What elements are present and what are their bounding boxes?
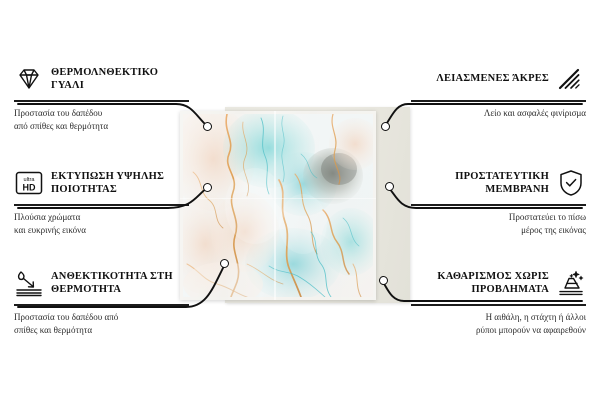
feature-title: ΕΚΤΥΠΩΣΗ ΥΨΗΛΗΣ ΠΟΙΟΤΗΤΑΣ	[51, 170, 189, 196]
hotspot-left-3[interactable]	[220, 259, 229, 268]
feature-description: Λείο και ασφαλές φινίρισμα	[411, 107, 586, 120]
divider	[14, 304, 189, 306]
abstract-marble-artwork	[183, 114, 373, 297]
feature-protective-membrane: ΠΡΟΣΤΑΤΕΥΤΙΚΗ ΜΕΜΒΡΑΝΗ Προστατεύει το πί…	[411, 166, 586, 237]
divider	[14, 204, 189, 206]
diamond-icon	[14, 64, 44, 94]
feature-easy-cleaning: ΚΑΘΑΡΙΣΜΟΣ ΧΩΡΙΣ ΠΡΟΒΛΗΜΑΤΑ Η αιθάλη, η …	[411, 266, 586, 337]
divider	[411, 204, 586, 206]
hotspot-right-3[interactable]	[379, 276, 388, 285]
feature-polished-edges: ΛΕΙΑΣΜΕΝΕΣ ΆΚΡΕΣ Λείο και ασφαλές φινίρι…	[411, 62, 586, 120]
feature-header: ΚΑΘΑΡΙΣΜΟΣ ΧΩΡΙΣ ΠΡΟΒΛΗΜΑΤΑ	[411, 266, 586, 300]
feature-title: ΠΡΟΣΤΑΤΕΥΤΙΚΗ ΜΕΜΒΡΑΝΗ	[411, 170, 549, 196]
hotspot-right-2[interactable]	[385, 182, 394, 191]
hotspot-left-1[interactable]	[203, 122, 212, 131]
glass-panel	[180, 111, 376, 300]
feature-high-quality-print: ultra HD ΕΚΤΥΠΩΣΗ ΥΨΗΛΗΣ ΠΟΙΟΤΗΤΑΣ Πλούσ…	[14, 166, 189, 237]
feature-header: ΑΝΘΕΚΤΙΚΟΤΗΤΑ ΣΤΗ ΘΕΡΜΟΤΗΤΑ	[14, 266, 189, 300]
feature-heat-durability: ΑΝΘΕΚΤΙΚΟΤΗΤΑ ΣΤΗ ΘΕΡΜΟΤΗΤΑ Προστασία το…	[14, 266, 189, 337]
hotspot-right-1[interactable]	[381, 122, 390, 131]
feature-description: Προστασία του δαπέδου απόσπίθες και θερμ…	[14, 311, 189, 337]
heat-resistance-icon	[14, 268, 44, 298]
divider	[411, 100, 586, 102]
feature-title: ΑΝΘΕΚΤΙΚΟΤΗΤΑ ΣΤΗ ΘΕΡΜΟΤΗΤΑ	[51, 270, 189, 296]
feature-title: ΘΕΡΜΟΛΝΘΕΚΤΙΚΟ ΓΥΑΛΙ	[51, 66, 189, 92]
shield-check-icon	[556, 168, 586, 198]
easy-clean-icon	[556, 268, 586, 298]
polished-edges-icon	[556, 64, 586, 94]
hotspot-left-2[interactable]	[203, 183, 212, 192]
feature-header: ΘΕΡΜΟΛΝΘΕΚΤΙΚΟ ΓΥΑΛΙ	[14, 62, 189, 96]
product-image	[180, 105, 410, 305]
feature-header: ΛΕΙΑΣΜΕΝΕΣ ΆΚΡΕΣ	[411, 62, 586, 96]
feature-header: ultra HD ΕΚΤΥΠΩΣΗ ΥΨΗΛΗΣ ΠΟΙΟΤΗΤΑΣ	[14, 166, 189, 200]
feature-description: Η αιθάλη, η στάχτη ή άλλοιρύποι μπορούν …	[411, 311, 586, 337]
feature-description: Πλούσια χρώματακαι ευκρινής εικόνα	[14, 211, 189, 237]
feature-heat-resistant-glass: ΘΕΡΜΟΛΝΘΕΚΤΙΚΟ ΓΥΑΛΙ Προστασία του δαπέδ…	[14, 62, 189, 133]
svg-text:HD: HD	[23, 183, 36, 193]
feature-description: Προστασία του δαπέδουαπό σπίθες και θερμ…	[14, 107, 189, 133]
feature-header: ΠΡΟΣΤΑΤΕΥΤΙΚΗ ΜΕΜΒΡΑΝΗ	[411, 166, 586, 200]
feature-title: ΛΕΙΑΣΜΕΝΕΣ ΆΚΡΕΣ	[436, 72, 549, 85]
infographic-canvas: ΘΕΡΜΟΛΝΘΕΚΤΙΚΟ ΓΥΑΛΙ Προστασία του δαπέδ…	[0, 0, 600, 400]
divider	[14, 100, 189, 102]
divider	[411, 304, 586, 306]
feature-title: ΚΑΘΑΡΙΣΜΟΣ ΧΩΡΙΣ ΠΡΟΒΛΗΜΑΤΑ	[411, 270, 549, 296]
feature-description: Προστατεύει το πίσωμέρος της εικόνας	[411, 211, 586, 237]
ultra-hd-icon: ultra HD	[14, 168, 44, 198]
